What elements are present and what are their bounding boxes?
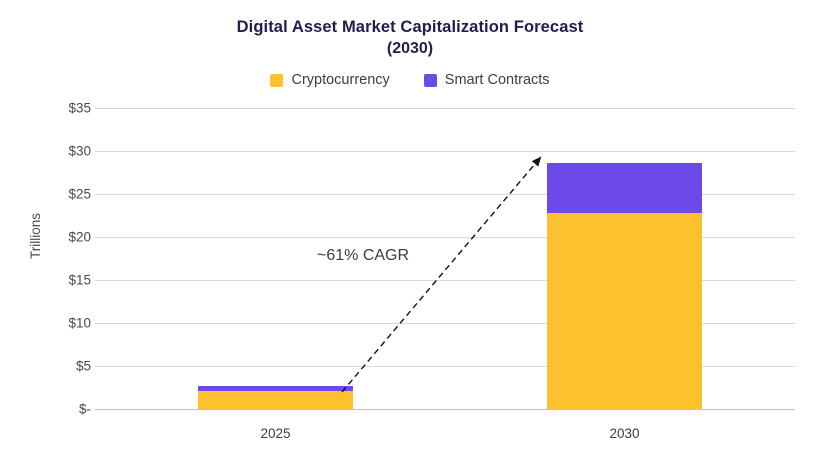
cagr-annotation-label: ~61% CAGR — [317, 247, 409, 265]
legend-item-smart-contracts: Smart Contracts — [424, 72, 550, 88]
bar-segment-smart-contracts[interactable] — [198, 386, 353, 391]
y-tick-label: $5 — [1, 359, 91, 374]
gridline — [95, 151, 795, 152]
y-axis-title: Trillions — [28, 213, 43, 259]
chart-subtitle: (2030) — [0, 38, 820, 60]
legend-swatch-icon — [270, 74, 283, 87]
title-block: Digital Asset Market Capitalization Fore… — [0, 16, 820, 60]
y-tick-label: $10 — [1, 316, 91, 331]
y-tick-label: $15 — [1, 273, 91, 288]
bar-group-2030 — [547, 163, 702, 410]
chart-title: Digital Asset Market Capitalization Fore… — [0, 16, 820, 38]
y-tick-label: $- — [1, 402, 91, 417]
y-tick-label: $25 — [1, 187, 91, 202]
x-tick-label-2030: 2030 — [547, 426, 702, 441]
plot-area: $35 $30 $25 $20 $15 $10 $5 $- ~61% CAGR — [95, 108, 795, 410]
x-tick-label-2025: 2025 — [198, 426, 353, 441]
chart-legend: Cryptocurrency Smart Contracts — [0, 72, 820, 88]
legend-swatch-icon — [424, 74, 437, 87]
bar-segment-smart-contracts[interactable] — [547, 163, 702, 213]
bar-segment-cryptocurrency[interactable] — [198, 391, 353, 410]
y-tick-label: $35 — [1, 101, 91, 116]
gridline — [95, 108, 795, 109]
y-tick-label: $30 — [1, 144, 91, 159]
y-tick-label: $20 — [1, 230, 91, 245]
legend-item-cryptocurrency: Cryptocurrency — [270, 72, 389, 88]
legend-label: Cryptocurrency — [291, 72, 389, 88]
bar-group-2025 — [198, 386, 353, 410]
chart-container: Digital Asset Market Capitalization Fore… — [0, 0, 820, 459]
bar-segment-cryptocurrency[interactable] — [547, 213, 702, 410]
legend-label: Smart Contracts — [445, 72, 550, 88]
